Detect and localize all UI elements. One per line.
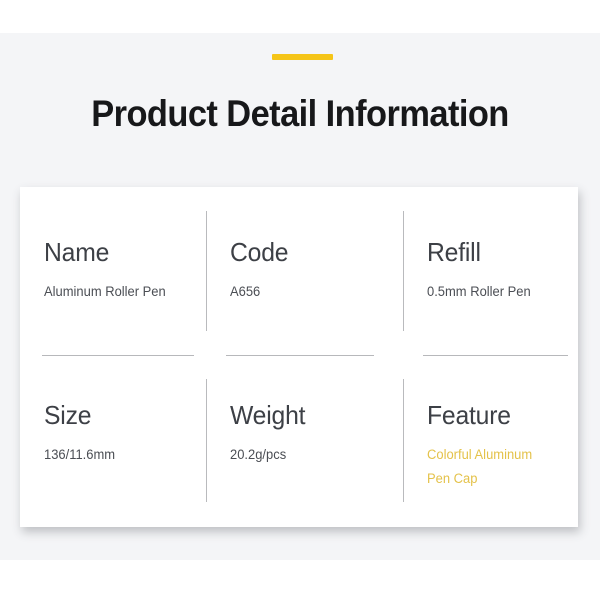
field-label: Refill <box>427 237 570 267</box>
detail-cell-refill: Refill 0.5mm Roller Pen <box>403 187 578 355</box>
field-value-line-1: Colorful Aluminum <box>427 447 532 462</box>
field-value: Colorful Aluminum Pen Cap <box>427 443 572 491</box>
detail-cell-feature: Feature Colorful Aluminum Pen Cap <box>403 368 578 527</box>
product-detail-card: Name Aluminum Roller Pen Code A656 Refil… <box>20 187 578 527</box>
detail-cell-size: Size 136/11.6mm <box>20 368 206 527</box>
detail-cell-code: Code A656 <box>206 187 403 355</box>
page-title: Product Detail Information <box>21 92 579 136</box>
detail-cell-name: Name Aluminum Roller Pen <box>20 187 206 355</box>
field-value-line-2: Pen Cap <box>427 467 572 491</box>
field-label: Size <box>44 400 198 430</box>
row-divider-group <box>20 355 578 368</box>
field-value: 0.5mm Roller Pen <box>427 280 572 304</box>
product-detail-page: Product Detail Information Name Aluminum… <box>0 0 600 600</box>
row-divider <box>42 355 194 356</box>
detail-row: Size 136/11.6mm Weight 20.2g/pcs Feature… <box>20 368 578 527</box>
title-accent-bar <box>272 54 333 60</box>
field-value: 20.2g/pcs <box>230 443 396 467</box>
row-divider <box>226 355 374 356</box>
field-label: Name <box>44 237 198 267</box>
field-label: Feature <box>427 400 570 430</box>
field-label: Weight <box>230 400 394 430</box>
field-label: Code <box>230 237 394 267</box>
field-value: A656 <box>230 280 396 304</box>
field-value: Aluminum Roller Pen <box>44 280 200 304</box>
field-value: 136/11.6mm <box>44 443 200 467</box>
detail-cell-weight: Weight 20.2g/pcs <box>206 368 403 527</box>
row-divider <box>423 355 568 356</box>
detail-row: Name Aluminum Roller Pen Code A656 Refil… <box>20 187 578 355</box>
